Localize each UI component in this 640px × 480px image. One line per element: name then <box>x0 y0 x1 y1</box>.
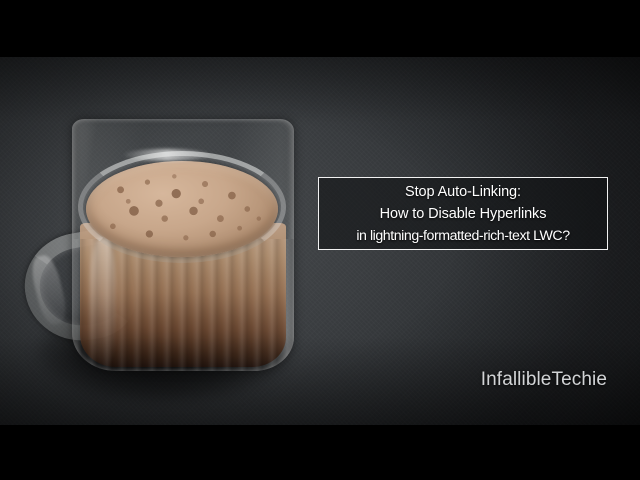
channel-watermark: InfallibleTechie <box>481 369 607 391</box>
title-card: Stop Auto-Linking: How to Disable Hyperl… <box>318 177 608 250</box>
title-line-1: Stop Auto-Linking: <box>405 181 521 203</box>
bottom-letterbox <box>0 425 640 480</box>
top-letterbox <box>0 0 640 57</box>
title-line-2: How to Disable Hyperlinks <box>380 203 547 225</box>
title-line-3: in lightning-formatted-rich-text LWC? <box>356 225 569 247</box>
video-frame: Stop Auto-Linking: How to Disable Hyperl… <box>0 0 640 480</box>
